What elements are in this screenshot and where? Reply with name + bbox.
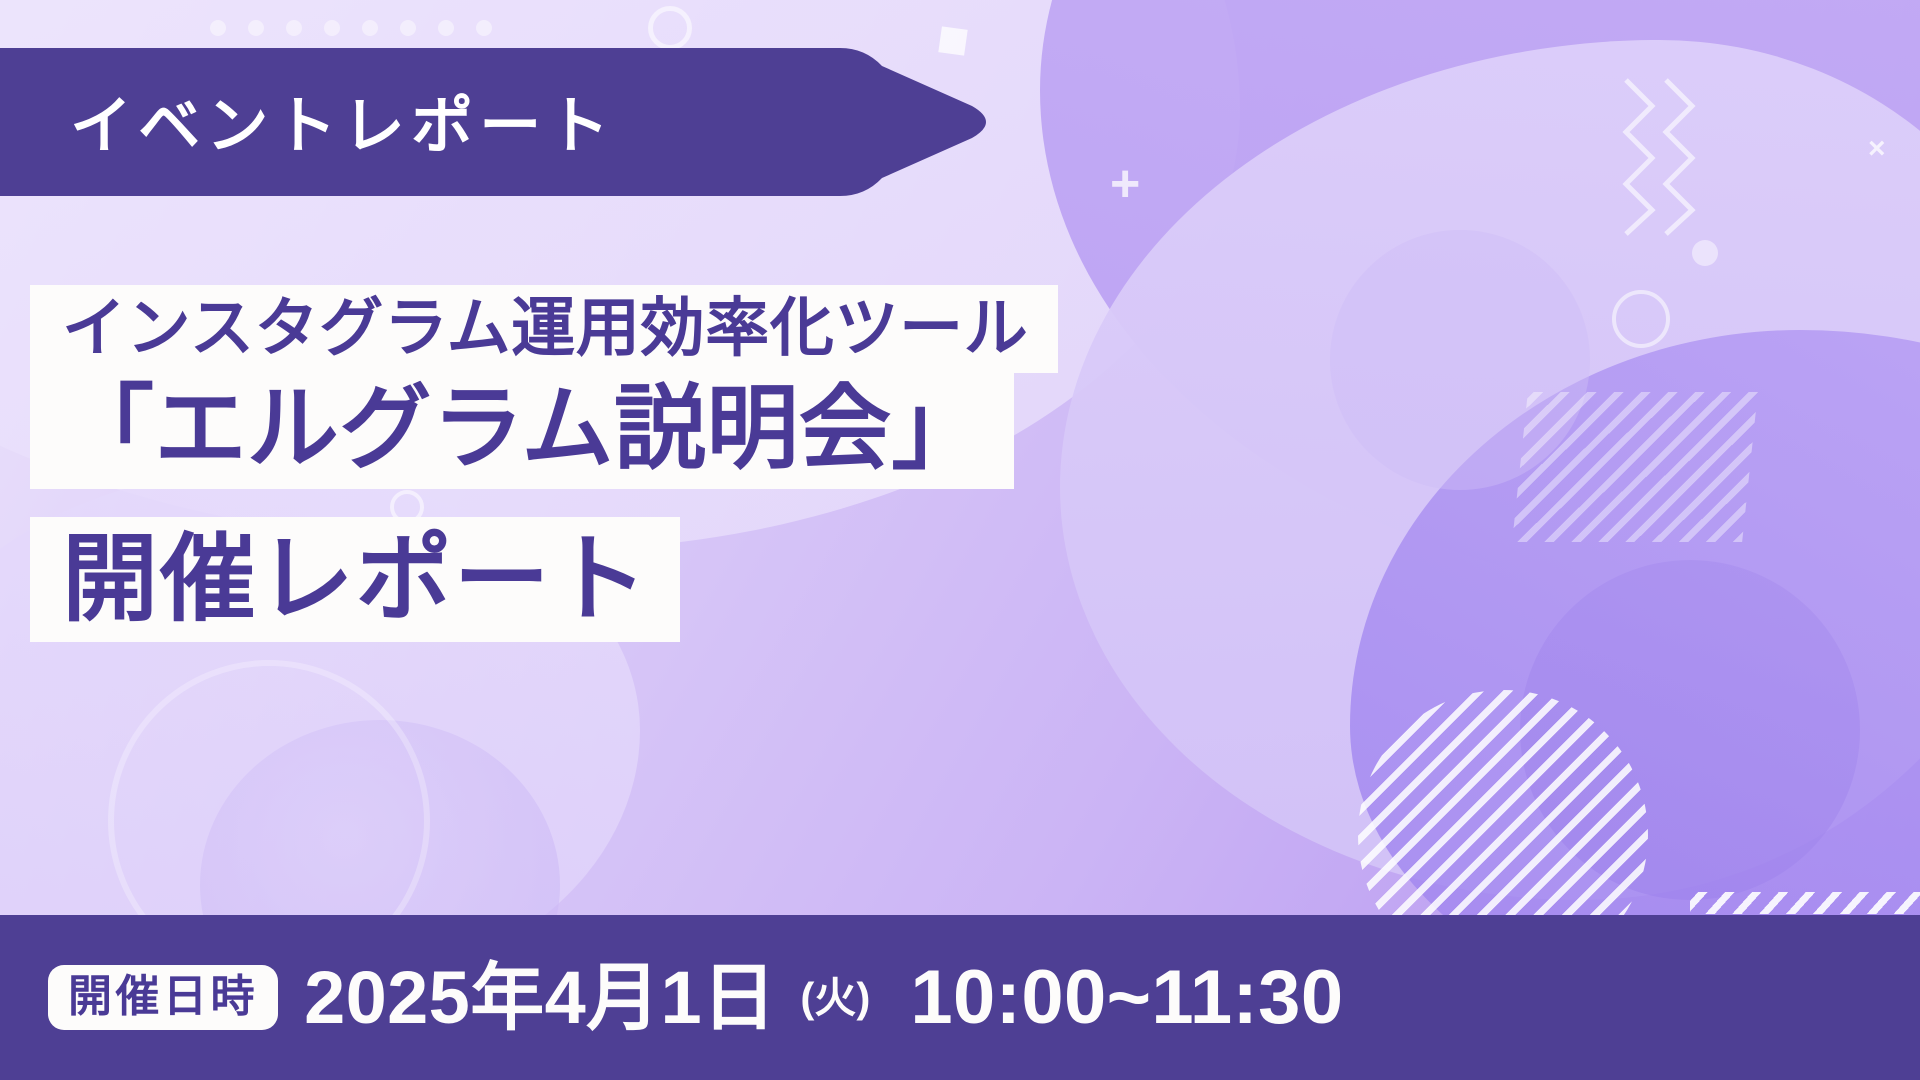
event-datetime-content: 開催日時 2025年4月1日 (火) 10:00~11:30: [0, 960, 1343, 1036]
event-time-range: 10:00~11:30: [910, 960, 1343, 1036]
datetime-chip-label: 開催日時: [48, 965, 278, 1031]
ring-decoration-top: [648, 6, 692, 50]
headline-row-2: 「エルグラム説明会」: [30, 369, 1920, 490]
plus-decoration-upper: +: [1110, 158, 1140, 210]
dot-row-decoration: [210, 20, 492, 36]
event-day-of-week: (火): [800, 977, 870, 1019]
hatched-strip-decoration: [1690, 892, 1920, 914]
banner-canvas: + × イベントレポート インスタグラム運用効率化ツール 「エルグラム説明会」 …: [0, 0, 1920, 1080]
headline-line-3: 開催レポート: [30, 517, 680, 642]
event-report-badge: イベントレポート: [0, 48, 990, 196]
event-date: 2025年4月1日: [304, 961, 776, 1035]
zigzag-decoration: [1618, 72, 1698, 242]
headline-group: インスタグラム運用効率化ツール 「エルグラム説明会」 開催レポート: [0, 285, 1920, 642]
cross-decoration-right: ×: [1868, 134, 1886, 164]
badge-label: イベントレポート: [70, 75, 616, 165]
headline-line-1: インスタグラム運用効率化ツール: [30, 285, 1058, 373]
event-datetime-bar: 開催日時 2025年4月1日 (火) 10:00~11:30: [0, 915, 1920, 1080]
headline-line-2: 「エルグラム説明会」: [30, 369, 1014, 490]
headline-row-3: 開催レポート: [30, 517, 1920, 642]
dot-decoration-right: [1692, 240, 1718, 266]
headline-row-1: インスタグラム運用効率化ツール: [30, 285, 1920, 373]
